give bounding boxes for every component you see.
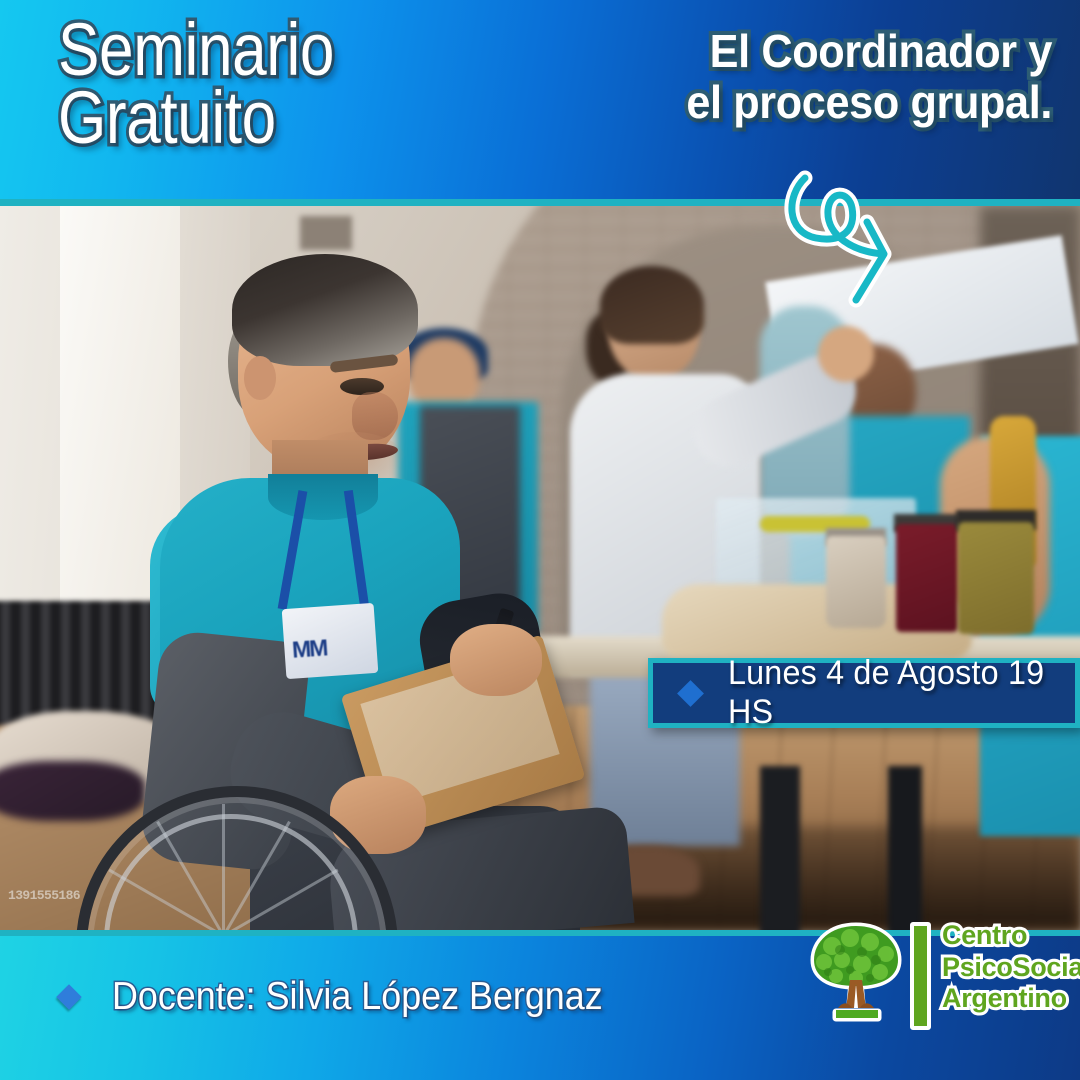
event-date-text: Lunes 4 de Agosto 19 HS <box>728 654 1058 732</box>
logo-line-1: Centro <box>942 920 1080 952</box>
photo-wall-frame <box>300 216 352 250</box>
poster-canvas: Seminario Gratuito El Coordinador y el p… <box>0 0 1080 1080</box>
photo-id-badge-text: MM <box>291 631 373 664</box>
photo-man-hair <box>232 254 418 366</box>
photo-table-leg-1 <box>760 766 800 930</box>
photo-wheel-spoke <box>222 804 225 930</box>
photo-jar2 <box>896 524 958 632</box>
header-divider <box>0 199 1080 206</box>
photo-man-hand-right <box>450 624 542 696</box>
hero-photo: MM 1391555186 <box>0 206 1080 930</box>
photo-cloth-dark <box>0 761 145 821</box>
organization-logo: Centro PsicoSocial Argentino <box>806 918 1074 1026</box>
logo-text: Centro PsicoSocial Argentino <box>942 920 1080 1015</box>
event-date-banner: Lunes 4 de Agosto 19 HS <box>648 658 1080 728</box>
photo-man-ear <box>244 356 276 400</box>
logo-line-2: PsicoSocial <box>942 952 1080 984</box>
instructor-name: Docente: Silvia López Bergnaz <box>112 975 603 1019</box>
diamond-bullet-icon <box>677 680 704 707</box>
photo-volunteer1-hand <box>818 326 874 382</box>
seminar-topic-title: El Coordinador y el proceso grupal. <box>610 26 1052 127</box>
tree-icon <box>806 920 906 1024</box>
photo-man-collar <box>268 474 378 520</box>
photo-volunteer1-hair <box>600 266 704 344</box>
photo-watermark: 1391555186 <box>8 888 80 903</box>
photo-jar3 <box>958 522 1034 634</box>
instructor-row: Docente: Silvia López Bergnaz <box>60 975 645 1019</box>
seminar-title: Seminario Gratuito <box>58 16 495 152</box>
diamond-bullet-icon <box>56 984 81 1009</box>
logo-divider-bar <box>910 922 931 1030</box>
photo-table-leg-2 <box>888 766 922 930</box>
photo-jar1 <box>826 536 886 628</box>
logo-line-3: Argentino <box>942 983 1080 1015</box>
